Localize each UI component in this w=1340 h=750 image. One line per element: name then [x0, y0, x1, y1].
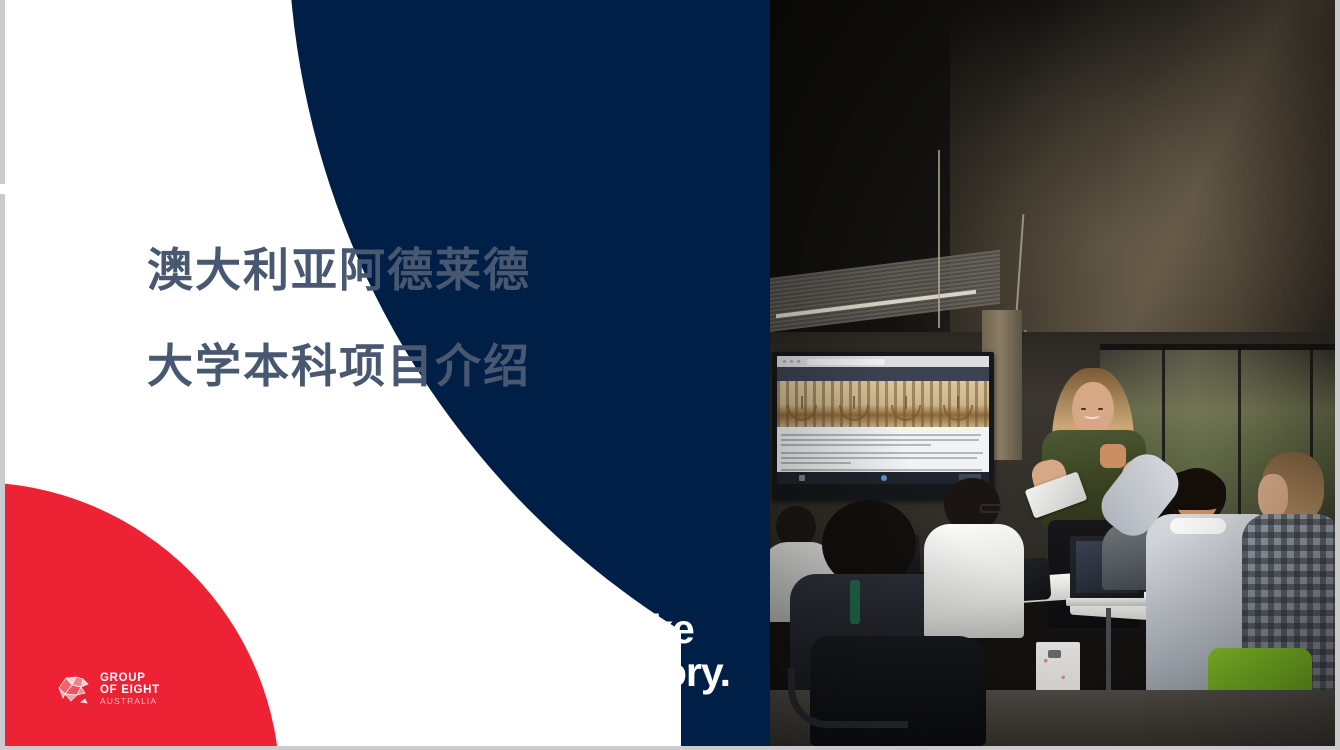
slide-edge-notch	[0, 184, 5, 194]
slide-edge-bottom	[0, 746, 1340, 750]
red-curve-shape	[5, 482, 280, 746]
logo-line-2: OF EIGHT	[100, 685, 160, 697]
screen-text-line	[781, 457, 977, 459]
eye-icon	[1081, 408, 1086, 410]
screen-text-line	[781, 462, 851, 464]
tagline-line-1: make	[593, 608, 730, 651]
window-dot-icon	[790, 360, 793, 363]
screen-text-line	[781, 444, 931, 446]
title-line-1: 澳大利亚阿德莱德	[147, 222, 617, 318]
screen-content	[777, 356, 989, 484]
white-shirt	[924, 524, 1024, 638]
app-toolbar	[777, 367, 989, 381]
classroom-photo	[770, 0, 1335, 746]
face	[1072, 382, 1114, 434]
mast-motif-icon	[905, 396, 907, 409]
slide-edge-left	[0, 0, 5, 750]
screen-text-line	[781, 469, 982, 471]
screen-text-line	[781, 439, 979, 441]
glasses-icon	[980, 504, 1002, 513]
window-dot-icon	[797, 360, 800, 363]
pendant-cord-icon	[938, 150, 940, 328]
collar	[1170, 518, 1226, 534]
logo-line-3: AUSTRALIA	[100, 697, 160, 706]
settings-icon	[799, 475, 805, 481]
title-line-2: 大学本科项目介绍	[147, 318, 617, 414]
brand-tagline: make history.	[593, 608, 730, 694]
browser-titlebar	[777, 356, 989, 367]
raised-hand	[1100, 444, 1126, 468]
australia-map-geometric-icon	[57, 674, 93, 705]
window-dot-icon	[783, 360, 786, 363]
logo-line-1: GROUP	[100, 673, 160, 685]
group-of-eight-logo: GROUP OF EIGHT AUSTRALIA	[57, 673, 160, 706]
lanyard	[850, 580, 860, 624]
mast-motif-icon	[801, 396, 803, 409]
slide-edge-right	[1335, 0, 1340, 750]
url-bar	[807, 359, 885, 365]
chair-armrest	[788, 668, 908, 728]
left-content-panel: 澳大利亚阿德莱德 大学本科项目介绍 make history.	[5, 0, 770, 746]
student-figure	[920, 478, 1030, 638]
logo-wordmark: GROUP OF EIGHT AUSTRALIA	[100, 673, 160, 706]
user-icon	[881, 475, 887, 481]
screen-text-line	[781, 434, 981, 436]
presentation-slide: 澳大利亚阿德莱德 大学本科项目介绍 make history.	[0, 0, 1340, 750]
smile-icon	[1084, 412, 1100, 419]
manuscript-tapestry-image	[777, 381, 989, 427]
screen-text-line	[781, 452, 983, 454]
face	[1258, 474, 1288, 518]
mast-motif-icon	[957, 396, 959, 409]
tagline-line-2: history.	[593, 651, 730, 694]
whiteboard-handle	[1048, 650, 1061, 658]
page-title: 澳大利亚阿德莱德 大学本科项目介绍	[147, 222, 617, 414]
eye-icon	[1098, 408, 1103, 410]
mast-motif-icon	[853, 396, 855, 409]
